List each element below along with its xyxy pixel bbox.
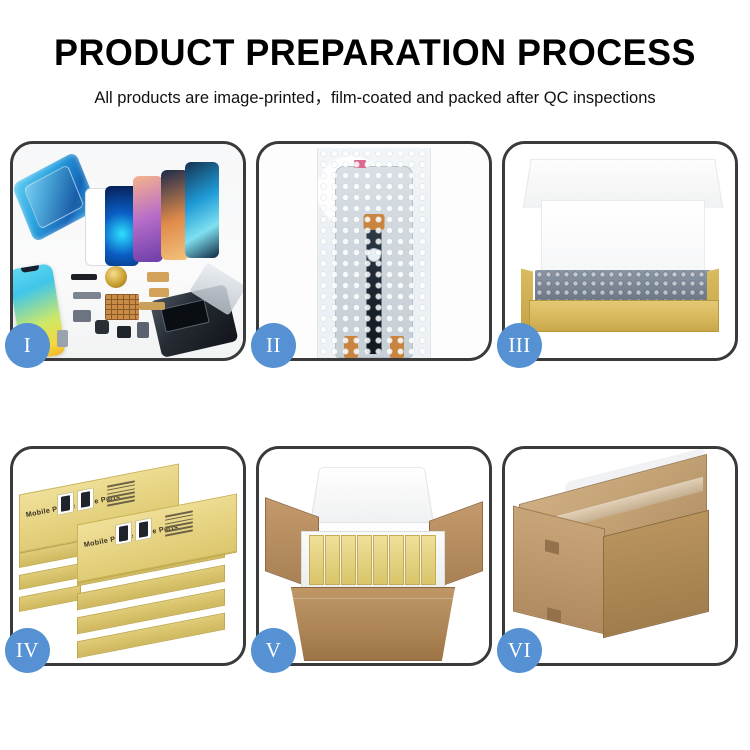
step-badge-6: VI (497, 628, 542, 673)
tray-front-icon (529, 300, 719, 332)
step-badge-5: V (251, 628, 296, 673)
step-image-carton-with-foam-liner (259, 449, 489, 663)
part-icon-4 (117, 326, 131, 338)
part-icon-7 (73, 292, 101, 299)
packed-box-icon-2 (325, 535, 340, 585)
part-icon-1 (71, 274, 97, 280)
packed-box-icon-8 (421, 535, 436, 585)
part-icon-5 (137, 322, 149, 338)
screw-tray-icon (105, 294, 139, 320)
box-phone-image-2b (135, 517, 152, 541)
packed-box-icon-5 (373, 535, 388, 585)
part-icon-6 (57, 330, 68, 347)
step-panel-6: VI (502, 446, 738, 666)
bubble-wrap-bag-icon (317, 148, 431, 358)
product-preparation-infographic: PRODUCT PREPARATION PROCESS All products… (0, 0, 750, 750)
packed-box-icon-1 (309, 535, 324, 585)
step-badge-4: IV (5, 628, 50, 673)
process-steps-grid: I II (10, 141, 740, 686)
step-badge-2: II (251, 323, 296, 368)
packed-box-icon-6 (389, 535, 404, 585)
part-icon-8 (139, 302, 165, 310)
step-panel-4: Mobile Phone Spare Parts Mobile Phone Sp… (10, 446, 246, 666)
styrofoam-lid-icon (310, 467, 434, 523)
flex-cable-icon-1 (147, 272, 169, 282)
packed-box-icon-3 (341, 535, 356, 585)
box-stack-icon: Mobile Phone Spare Parts Mobile Phone Sp… (15, 463, 243, 663)
step-image-sealed-shipping-carton (505, 449, 735, 663)
step-panel-5: V (256, 446, 492, 666)
box-phone-image-1a (57, 491, 74, 515)
part-icon-2 (73, 310, 91, 322)
speaker-coil-icon (105, 266, 127, 288)
page-title: PRODUCT PREPARATION PROCESS (11, 34, 739, 73)
step-badge-3: III (497, 323, 542, 368)
box-phone-image-2a (115, 521, 132, 545)
step-image-stacked-retail-boxes: Mobile Phone Spare Parts Mobile Phone Sp… (13, 449, 243, 663)
page-subtitle: All products are image-printed，film-coat… (0, 84, 750, 108)
carton-body-icon (291, 587, 455, 661)
step-panel-3: III (502, 141, 738, 361)
bubble-texture-icon (318, 148, 430, 358)
step-panel-2: II (256, 141, 492, 361)
packed-box-icon-4 (357, 535, 372, 585)
step-panel-1: I (10, 141, 246, 361)
header: PRODUCT PREPARATION PROCESS All products… (0, 0, 750, 108)
step-image-bubble-wrapped-screen (259, 144, 489, 358)
box-edge-icon-4 (19, 585, 81, 612)
packed-box-icon-7 (405, 535, 420, 585)
step-badge-1: I (5, 323, 50, 368)
grey-bubble-wrap-icon (535, 270, 711, 302)
step-image-products-and-spare-parts (13, 144, 243, 358)
box-phone-image-1b (77, 487, 94, 511)
part-icon-3 (95, 320, 109, 334)
phone-display-d-icon (185, 162, 219, 258)
step-image-open-kraft-tray-with-foam (505, 144, 735, 358)
foam-sheet-icon (541, 200, 705, 272)
phone-display-b-icon (133, 176, 163, 262)
flex-cable-icon-2 (149, 288, 169, 297)
